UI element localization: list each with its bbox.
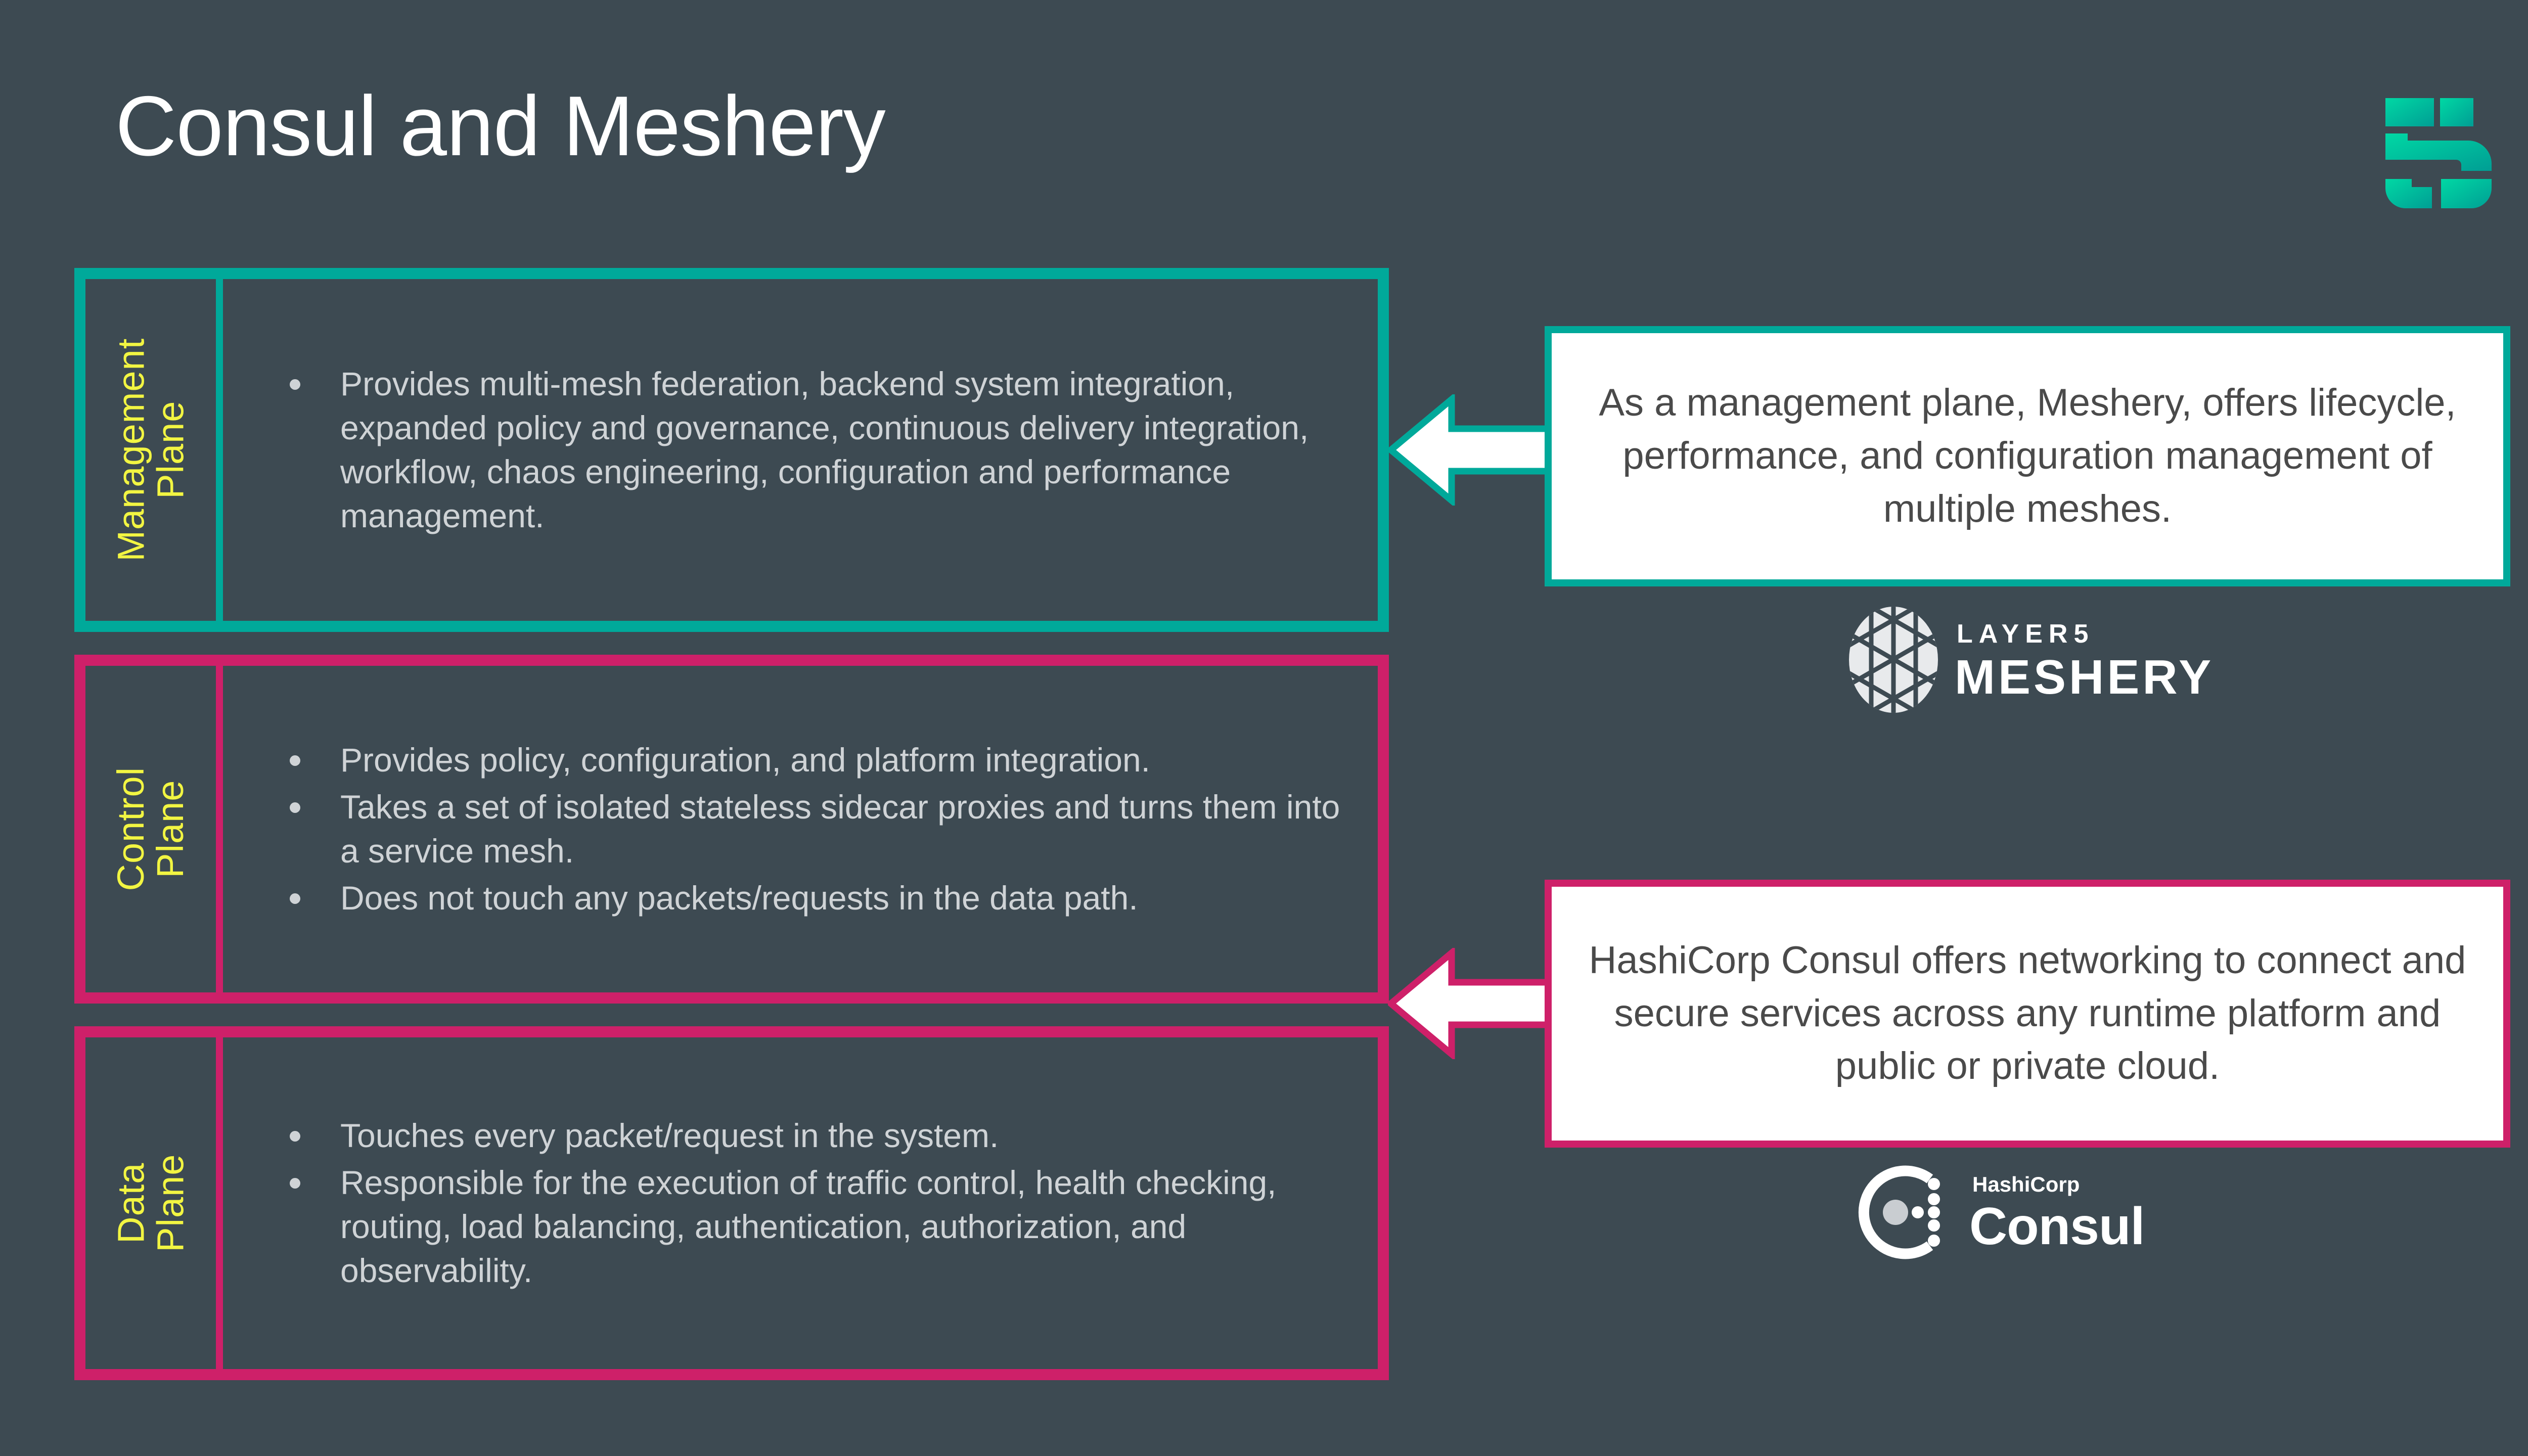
list-item: Takes a set of isolated stateless sideca… xyxy=(243,785,1342,873)
list-item: Touches every packet/request in the syst… xyxy=(243,1114,1342,1158)
consul-hashicorp-text: HashiCorp xyxy=(1972,1174,2144,1195)
consul-logo: HashiCorp Consul xyxy=(1853,1163,2258,1264)
meshery-callout-arrow-icon xyxy=(1388,394,1555,506)
list-item: Provides policy, configuration, and plat… xyxy=(243,738,1342,782)
meshery-logo: LAYER5 MESHERY xyxy=(1845,607,2260,715)
meshery-callout-text: As a management plane, Meshery, offers l… xyxy=(1552,377,2503,536)
data-plane-label: Data Plane xyxy=(111,1154,190,1252)
meshery-layers5-text: LAYER5 xyxy=(1957,621,2214,647)
data-plane-label-cell: Data Plane xyxy=(85,1037,223,1369)
list-item: Responsible for the execution of traffic… xyxy=(243,1161,1342,1293)
meshery-callout-box: As a management plane, Meshery, offers l… xyxy=(1545,326,2510,586)
control-plane-label-line2: Plane xyxy=(151,767,190,891)
control-plane-label-cell: Control Plane xyxy=(85,666,223,992)
management-plane-label: Management Plane xyxy=(111,338,190,562)
page-title: Consul and Meshery xyxy=(115,83,885,168)
list-item: Provides multi-mesh federation, backend … xyxy=(243,362,1342,538)
data-plane-bullet-list: Touches every packet/request in the syst… xyxy=(243,1114,1342,1293)
meshery-name-text: MESHERY xyxy=(1955,653,2214,702)
control-plane-label: Control Plane xyxy=(111,767,190,891)
consul-name-text: Consul xyxy=(1969,1200,2144,1253)
layer5-logo-icon xyxy=(2385,85,2507,211)
control-plane-body: Provides policy, configuration, and plat… xyxy=(223,666,1378,992)
consul-callout-arrow-icon xyxy=(1388,948,1555,1059)
data-plane-label-line2: Plane xyxy=(151,1154,190,1252)
management-plane-box: Management Plane Provides multi-mesh fed… xyxy=(74,268,1389,632)
control-plane-label-line1: Control xyxy=(110,767,152,891)
consul-circle-icon xyxy=(1853,1162,1954,1265)
consul-wordmark: HashiCorp Consul xyxy=(1969,1174,2144,1253)
data-plane-label-line1: Data xyxy=(110,1163,152,1244)
data-plane-body: Touches every packet/request in the syst… xyxy=(223,1037,1378,1369)
control-plane-box: Control Plane Provides policy, configura… xyxy=(74,655,1389,1004)
management-plane-label-line2: Plane xyxy=(151,338,190,562)
data-plane-box: Data Plane Touches every packet/request … xyxy=(74,1026,1389,1380)
control-plane-bullet-list: Provides policy, configuration, and plat… xyxy=(243,738,1342,920)
consul-callout-text: HashiCorp Consul offers networking to co… xyxy=(1552,934,2503,1094)
management-plane-bullet-list: Provides multi-mesh federation, backend … xyxy=(243,362,1342,538)
management-plane-body: Provides multi-mesh federation, backend … xyxy=(223,279,1378,621)
management-plane-label-cell: Management Plane xyxy=(85,279,223,621)
slide-canvas: Consul and Meshery Management Pl xyxy=(0,0,2528,1456)
consul-callout-box: HashiCorp Consul offers networking to co… xyxy=(1545,880,2510,1148)
list-item: Does not touch any packets/requests in t… xyxy=(243,876,1342,920)
management-plane-label-line1: Management xyxy=(110,338,152,562)
meshery-wordmark: LAYER5 MESHERY xyxy=(1955,621,2214,702)
meshery-mesh-icon xyxy=(1845,606,1942,717)
